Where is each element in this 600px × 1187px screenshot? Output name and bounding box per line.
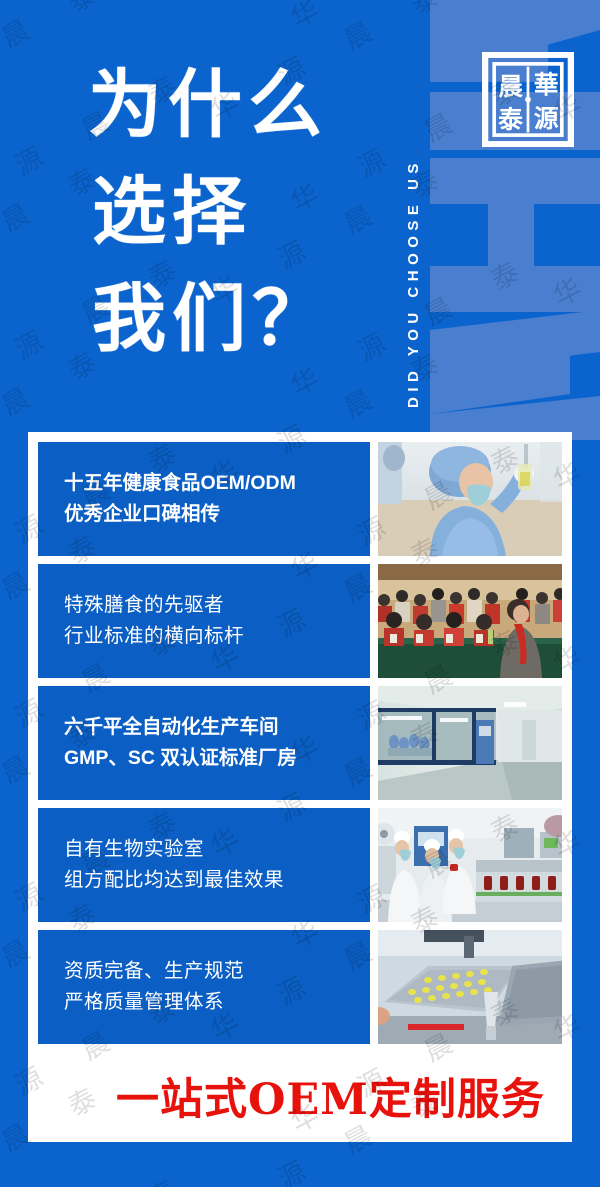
vertical-tagline: DID YOU CHOOSE US (405, 18, 431, 408)
list-item-line: 特殊膳食的先驱者 (64, 590, 370, 621)
list-item-text: 十五年健康食品OEM/ODM 优秀企业口碑相传 (38, 442, 370, 556)
list-item-line: 组方配比均达到最佳效果 (64, 865, 370, 896)
list-item[interactable]: 资质完备、生产规范 严格质量管理体系 (38, 930, 562, 1044)
features-card: 十五年健康食品OEM/ODM 优秀企业口碑相传 (28, 432, 572, 1142)
poster-header: 为什么 选择 我们？ DID YOU CHOOSE US 晨 華 泰 源 (0, 0, 600, 430)
list-item-line: 行业标准的横向标杆 (64, 621, 370, 652)
list-item-line: 资质完备、生产规范 (64, 956, 370, 987)
list-item-photo (378, 686, 562, 800)
list-item-photo (378, 442, 562, 556)
svg-text:晨: 晨 (498, 72, 523, 101)
list-item[interactable]: 六千平全自动化生产车间 GMP、SC 双认证标准厂房 (38, 686, 562, 800)
list-item-line: 优秀企业口碑相传 (64, 499, 370, 530)
bottom-banner: 晨 華 泰 源 一站式OEM定制服务 (28, 1058, 572, 1142)
list-item-line: 严格质量管理体系 (64, 987, 370, 1018)
title-line-3: 我们？ (92, 266, 332, 373)
list-item-text: 特殊膳食的先驱者 行业标准的横向标杆 (38, 564, 370, 678)
banner-headline: 一站式OEM定制服务 (116, 1079, 545, 1122)
list-item-photo (378, 808, 562, 922)
list-item-text: 自有生物实验室 组方配比均达到最佳效果 (38, 808, 370, 922)
list-item-photo (378, 930, 562, 1044)
svg-text:華: 華 (534, 70, 559, 99)
features-list: 十五年健康食品OEM/ODM 优秀企业口碑相传 (38, 442, 562, 1044)
list-item-line: GMP、SC 双认证标准厂房 (64, 743, 370, 774)
list-item-text: 六千平全自动化生产车间 GMP、SC 双认证标准厂房 (38, 686, 370, 800)
list-item[interactable]: 特殊膳食的先驱者 行业标准的横向标杆 (38, 564, 562, 678)
list-item-line: 自有生物实验室 (64, 834, 370, 865)
svg-text:泰: 泰 (498, 105, 523, 134)
title-line-2: 选择 (92, 159, 332, 266)
svg-text:源: 源 (534, 104, 559, 133)
list-item-line: 十五年健康食品OEM/ODM (64, 468, 370, 499)
list-item[interactable]: 自有生物实验室 组方配比均达到最佳效果 (38, 808, 562, 922)
poster-root: 为什么 选择 我们？ DID YOU CHOOSE US 晨 華 泰 源 (0, 0, 600, 1187)
list-item[interactable]: 十五年健康食品OEM/ODM 优秀企业口碑相传 (38, 442, 562, 556)
list-item-line: 六千平全自动化生产车间 (64, 712, 370, 743)
company-seal-white: 晨 華 泰 源 (482, 52, 574, 147)
list-item-text: 资质完备、生产规范 严格质量管理体系 (38, 930, 370, 1044)
page-title: 为什么 选择 我们？ (88, 52, 332, 373)
list-item-photo (378, 564, 562, 678)
title-line-1: 为什么 (88, 52, 332, 159)
